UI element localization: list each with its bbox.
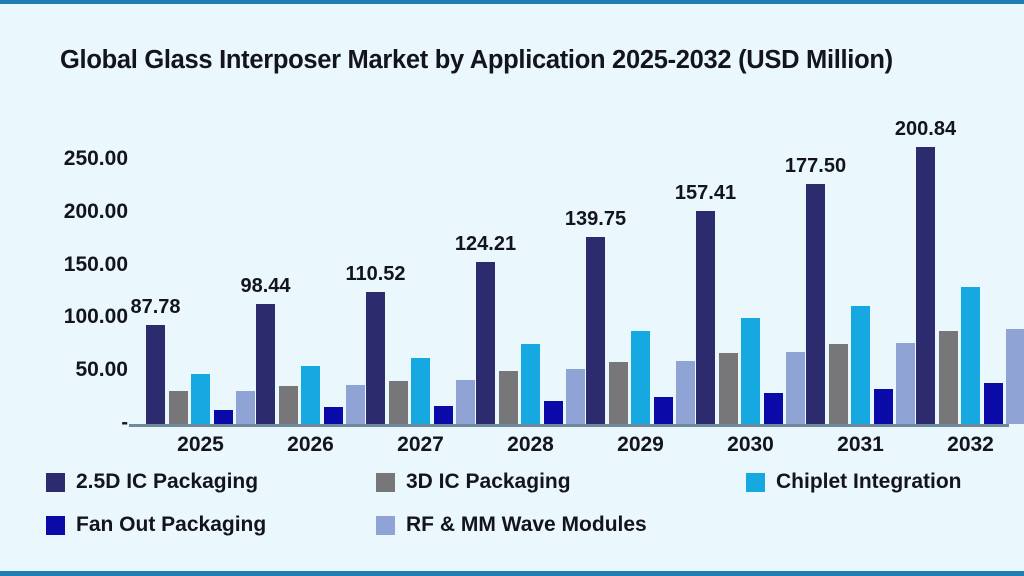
bar[interactable] [214,410,233,424]
bar[interactable] [521,344,540,424]
y-axis-tick: - [121,412,128,435]
bars-layer: 87.7898.44110.52124.21139.75157.41177.50… [129,108,1009,424]
x-axis-tick: 2031 [837,433,884,457]
bar-value-label: 124.21 [455,233,516,256]
bar-group: 157.41 [679,108,789,424]
bar[interactable] [301,366,320,424]
legend-swatch-icon [746,473,765,492]
y-axis-tick: 100.00 [64,305,128,329]
x-axis-tick: 2027 [397,433,444,457]
bar-value-label: 157.41 [675,182,736,205]
legend-item[interactable]: RF & MM Wave Modules [376,513,647,537]
bar[interactable] [476,262,495,424]
bar[interactable] [764,393,783,424]
bar[interactable] [631,331,650,424]
legend-item[interactable]: 3D IC Packaging [376,470,571,494]
x-axis-line [129,424,1009,427]
chart-page: Global Glass Interposer Market by Applic… [0,0,1024,576]
x-axis-tick: 2029 [617,433,664,457]
bar-group: 200.84 [899,108,1009,424]
legend-item-label: 3D IC Packaging [406,470,571,494]
bar-group: 124.21 [459,108,569,424]
bar[interactable] [146,325,165,424]
x-axis-tick: 2030 [727,433,774,457]
bar-value-label: 87.78 [130,296,180,319]
chart-legend: 2.5D IC Packaging3D IC PackagingChiplet … [46,466,986,546]
y-axis-tick: 150.00 [64,253,128,277]
legend-swatch-icon [376,516,395,535]
bar[interactable] [389,381,408,424]
bar-group: 98.44 [239,108,349,424]
bar[interactable] [169,391,188,424]
bar[interactable] [1006,329,1024,424]
legend-item[interactable]: Chiplet Integration [746,470,962,494]
bar[interactable] [916,147,935,424]
x-axis: 20252026202720282029203020312032 [129,433,1009,463]
legend-item-label: Chiplet Integration [776,470,962,494]
bar[interactable] [851,306,870,424]
bottom-rule [0,571,1024,576]
x-axis-tick: 2026 [287,433,334,457]
bar[interactable] [874,389,893,424]
y-axis-tick: 250.00 [64,147,128,171]
legend-item-label: Fan Out Packaging [76,513,266,537]
bar[interactable] [829,344,848,424]
bar[interactable] [499,371,518,424]
bar[interactable] [609,362,628,424]
bar-value-label: 200.84 [895,118,956,141]
bar[interactable] [984,383,1003,424]
legend-swatch-icon [376,473,395,492]
legend-swatch-icon [46,516,65,535]
bar[interactable] [719,353,738,424]
bar-group: 177.50 [789,108,899,424]
bar[interactable] [806,184,825,424]
x-axis-tick: 2032 [947,433,994,457]
legend-swatch-icon [46,473,65,492]
y-axis-tick: 200.00 [64,200,128,224]
bar[interactable] [544,401,563,424]
bar[interactable] [586,237,605,424]
bar-value-label: 177.50 [785,155,846,178]
bar[interactable] [256,304,275,424]
bar[interactable] [279,386,298,424]
x-axis-tick: 2028 [507,433,554,457]
bar[interactable] [324,407,343,424]
legend-item-label: 2.5D IC Packaging [76,470,258,494]
bar-group: 87.78 [129,108,239,424]
bar-group: 110.52 [349,108,459,424]
x-axis-tick: 2025 [177,433,224,457]
bar-group: 139.75 [569,108,679,424]
bar-value-label: 98.44 [240,275,290,298]
bar[interactable] [696,211,715,424]
bar[interactable] [366,292,385,424]
bar[interactable] [939,331,958,424]
bar[interactable] [961,287,980,424]
legend-item[interactable]: Fan Out Packaging [46,513,266,537]
bar[interactable] [411,358,430,424]
bar[interactable] [654,397,673,424]
bar[interactable] [191,374,210,424]
legend-item[interactable]: 2.5D IC Packaging [46,470,258,494]
y-axis-tick: 50.00 [75,358,128,382]
bar-value-label: 110.52 [345,263,405,286]
bar[interactable] [741,318,760,424]
legend-item-label: RF & MM Wave Modules [406,513,647,537]
bar-value-label: 139.75 [565,208,626,231]
bar[interactable] [434,406,453,424]
